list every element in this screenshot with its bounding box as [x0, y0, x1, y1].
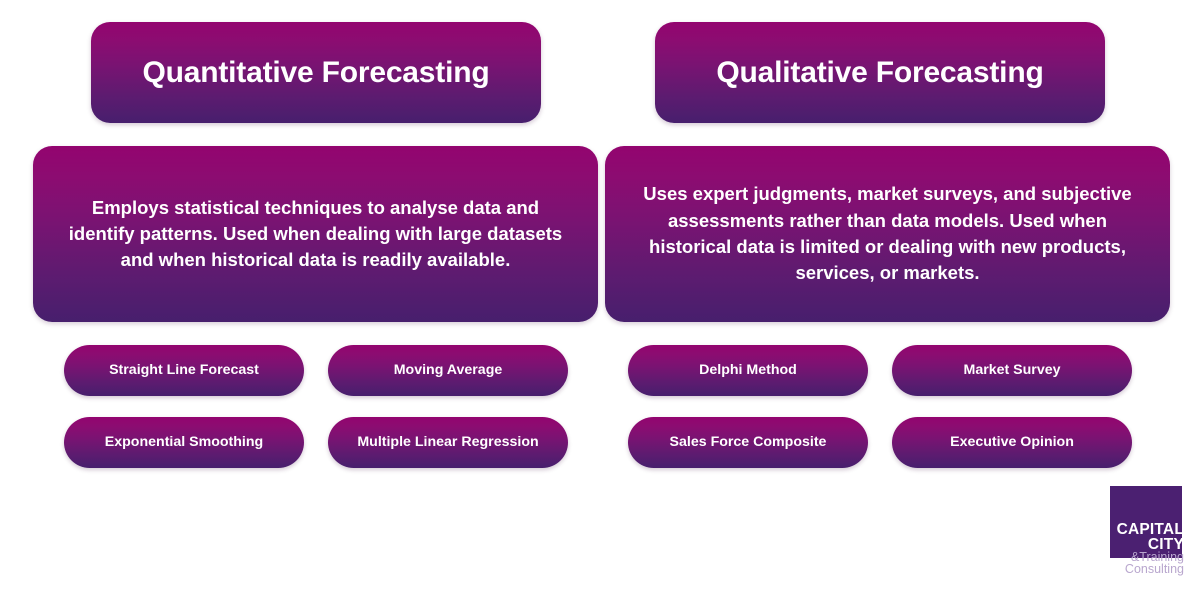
- method-pill-label: Executive Opinion: [950, 434, 1074, 450]
- header-title-qualitative: Qualitative Forecasting: [716, 56, 1043, 89]
- method-pill[interactable]: Straight Line Forecast: [64, 345, 304, 396]
- column-qualitative: Qualitative Forecasting Uses expert judg…: [605, 0, 1170, 600]
- method-pill[interactable]: Market Survey: [892, 345, 1132, 396]
- description-card-qualitative: Uses expert judgments, market surveys, a…: [605, 146, 1170, 322]
- header-title-quantitative: Quantitative Forecasting: [143, 56, 490, 89]
- method-pill-label: Delphi Method: [699, 362, 797, 378]
- forecasting-infographic: Quantitative Forecasting Employs statist…: [0, 0, 1200, 600]
- method-pill-label: Market Survey: [964, 362, 1061, 378]
- logo-line-consulting: Consulting: [1108, 563, 1184, 576]
- method-pill-label: Multiple Linear Regression: [357, 434, 538, 450]
- method-pill[interactable]: Delphi Method: [628, 345, 868, 396]
- header-card-qualitative: Qualitative Forecasting: [655, 22, 1105, 123]
- description-text-quantitative: Employs statistical techniques to analys…: [59, 195, 572, 274]
- method-pill-grid-quantitative: Straight Line Forecast Moving Average Ex…: [64, 345, 629, 468]
- method-pill-label: Moving Average: [394, 362, 503, 378]
- description-text-qualitative: Uses expert judgments, market surveys, a…: [631, 181, 1144, 286]
- brand-logo: CAPITAL CITY &Training Consulting: [1110, 486, 1182, 558]
- column-quantitative: Quantitative Forecasting Employs statist…: [33, 0, 598, 600]
- header-card-quantitative: Quantitative Forecasting: [91, 22, 541, 123]
- method-pill-label: Sales Force Composite: [670, 434, 827, 450]
- description-card-quantitative: Employs statistical techniques to analys…: [33, 146, 598, 322]
- method-pill-label: Straight Line Forecast: [109, 362, 259, 378]
- logo-wordmark: CAPITAL CITY &Training Consulting: [1108, 522, 1184, 575]
- method-pill[interactable]: Executive Opinion: [892, 417, 1132, 468]
- method-pill[interactable]: Moving Average: [328, 345, 568, 396]
- method-pill[interactable]: Sales Force Composite: [628, 417, 868, 468]
- method-pill-label: Exponential Smoothing: [105, 434, 263, 450]
- method-pill[interactable]: Multiple Linear Regression: [328, 417, 568, 468]
- method-pill[interactable]: Exponential Smoothing: [64, 417, 304, 468]
- method-pill-grid-qualitative: Delphi Method Market Survey Sales Force …: [628, 345, 1193, 468]
